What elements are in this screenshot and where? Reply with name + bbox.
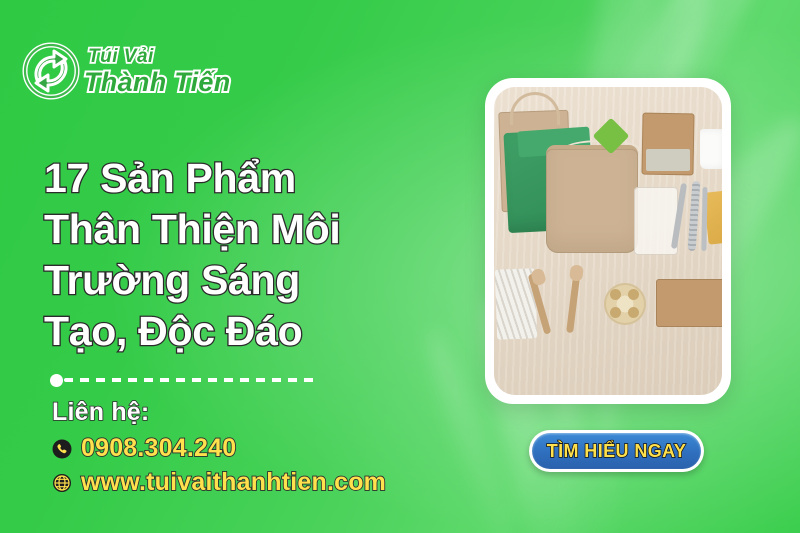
headline-line-2: Thân Thiện Môi [44,204,444,255]
brand-logo[interactable]: Túi Vải Thành Tiến [20,40,231,102]
jute-drawstring-pouch [546,149,638,253]
kraft-carton [656,279,722,327]
contact-label: Liên hệ: [52,398,386,427]
cta-button-label: TÌM HIỂU NGAY [547,441,687,462]
headline-line-4: Tạo, Độc Đáo [44,306,444,357]
recycle-circle-icon [20,40,82,102]
banner-canvas: Túi Vải Thành Tiến 17 Sản Phẩm Thân Thiệ… [0,0,800,533]
brand-name-line1: Túi Vải [88,47,231,66]
phone-icon [52,439,72,459]
product-photo [494,87,722,395]
divider-dashes [64,378,315,382]
brand-name-line2: Thành Tiến [84,69,231,96]
page-title: 17 Sản Phẩm Thân Thiện Môi Trường Sáng T… [44,153,444,356]
natural-soap-bar [646,149,690,171]
dashed-divider [50,373,315,387]
loofah-sponge [604,283,646,325]
divider-dot [50,374,63,387]
headline-line-1: 17 Sản Phẩm [44,153,444,204]
product-photo-card [485,78,731,404]
cta-button[interactable]: TÌM HIỂU NGAY [529,430,704,472]
globe-icon [52,473,72,493]
headline-line-3: Trường Sáng [44,255,444,306]
white-paper-cup [700,129,722,169]
contact-phone: 0908.304.240 [81,434,236,463]
cta-button-inner: TÌM HIỂU NGAY [532,433,701,469]
contact-website-row[interactable]: www.tuivaithanhtien.com [52,468,386,497]
contact-website: www.tuivaithanhtien.com [81,468,386,497]
contact-block: Liên hệ: 0908.304.240 [52,398,386,497]
contact-phone-row[interactable]: 0908.304.240 [52,434,386,463]
